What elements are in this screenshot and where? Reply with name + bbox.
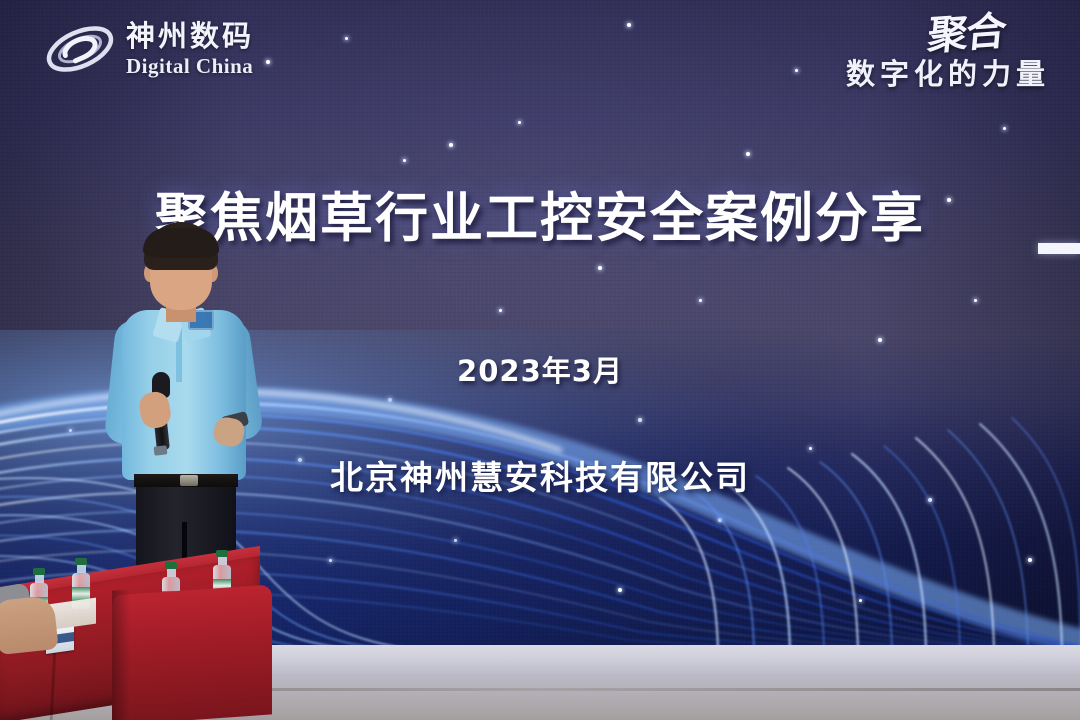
speaker-belt-buckle bbox=[180, 475, 198, 486]
star-particle bbox=[699, 299, 702, 302]
star-particle bbox=[345, 37, 348, 40]
bottle-neck bbox=[35, 575, 44, 583]
brand-logo-digital-china: 神州数码 Digital China bbox=[44, 18, 254, 80]
seated-person-hands bbox=[0, 595, 59, 655]
bottle-cap bbox=[75, 558, 87, 565]
star-particle bbox=[795, 69, 798, 72]
chair-shadow bbox=[112, 589, 130, 720]
digital-china-swirl-logo bbox=[44, 18, 116, 80]
star-particle bbox=[746, 152, 750, 156]
bottle-cap bbox=[165, 562, 177, 569]
star-particle bbox=[499, 309, 502, 312]
bottle-neck bbox=[167, 569, 176, 577]
stage-scene: 神州数码 Digital China 聚合 数字化的力量 聚焦烟草行业工控安全案… bbox=[0, 0, 1080, 720]
star-particle bbox=[974, 299, 977, 302]
event-calligraphy: 聚合 bbox=[926, 11, 1006, 56]
brand-name-en: Digital China bbox=[126, 56, 254, 77]
bottle-cap bbox=[216, 550, 228, 557]
star-particle bbox=[266, 60, 270, 64]
speaker-hair-front bbox=[143, 228, 219, 258]
bottle-neck bbox=[218, 557, 227, 565]
event-logo: 聚合 数字化的力量 bbox=[846, 14, 1050, 89]
star-particle bbox=[598, 266, 602, 270]
event-tagline: 数字化的力量 bbox=[846, 60, 1050, 89]
star-particle bbox=[449, 143, 453, 147]
brand-name-cn: 神州数码 bbox=[126, 22, 254, 51]
star-particle bbox=[518, 121, 521, 124]
star-particle bbox=[403, 159, 406, 162]
star-particle bbox=[627, 23, 631, 27]
red-chair-back bbox=[112, 584, 272, 720]
bottle-cap bbox=[33, 568, 45, 575]
bottle-neck bbox=[77, 565, 86, 573]
star-particle bbox=[1003, 127, 1006, 130]
microphone-tip bbox=[154, 445, 168, 455]
